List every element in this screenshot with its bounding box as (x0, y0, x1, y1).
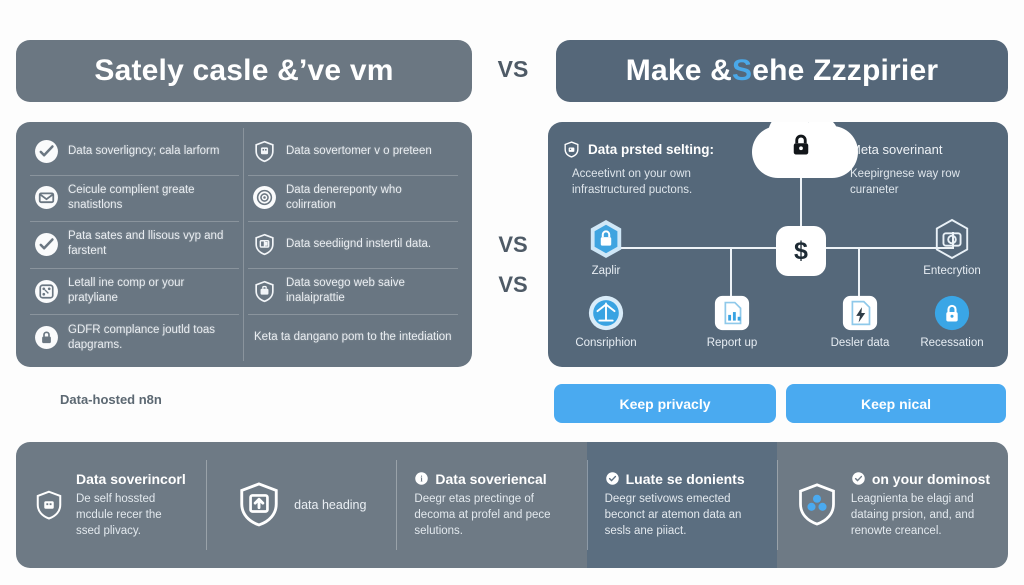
shield-building-icon (252, 139, 277, 164)
bottom-column-body: Deegr etas prectinge of decoma at profel… (414, 491, 568, 540)
right-panel-header: Make & Sehe Zzzpirier (556, 40, 1008, 102)
bottom-column-label: data heading (294, 498, 366, 512)
node-entecrytion[interactable]: Entecrytion (906, 218, 998, 277)
feature-text: Keta ta dangano pom to the intediation (254, 330, 452, 345)
node-label: Recessation (906, 337, 998, 349)
bottom-column-luate-se-donients[interactable]: Luate se donients Deegr setivows emected… (587, 442, 777, 568)
keep-nical-button[interactable]: Keep nical (786, 384, 1006, 423)
check-circle-icon (605, 471, 620, 486)
bottom-column-title: Data soveriencal (435, 471, 546, 487)
bottom-column-data-heading[interactable]: data heading (206, 442, 396, 568)
left-header-title: Sately casle &’ve vm (94, 54, 393, 88)
hex-lock-icon (560, 218, 652, 260)
bottom-column-text: Data soverincorl De self hossted mcdule … (76, 471, 188, 540)
vs-divider-top: VS (481, 56, 545, 83)
hex-camera-icon (906, 218, 998, 260)
bottom-column-body: De self hossted mcdule recer the ssed pl… (76, 491, 188, 540)
scales-circle-icon (560, 294, 652, 332)
bottom-column-body: Deegr setivows emected beconct ar atemon… (605, 491, 759, 540)
node-zaplir[interactable]: Zaplir (560, 218, 652, 277)
button-label: Keep privacly (619, 396, 710, 412)
padlock-icon (786, 130, 816, 165)
bottom-column-data-soverincorl[interactable]: Data soverincorl De self hossted mcdule … (16, 442, 206, 568)
lock-circle-icon (34, 325, 59, 350)
shield-lock-icon (34, 489, 64, 522)
bottom-column-title: Data soverincorl (76, 471, 188, 487)
left-feature-panel: Data soverligncy; cala larform Ceicule c… (16, 122, 472, 367)
check-circle-icon (851, 471, 866, 486)
bottom-column-text: on your dominost Leagnienta be elagi and… (851, 471, 990, 540)
cloud-node[interactable] (752, 126, 858, 178)
left-feature-column-1: Data soverligncy; cala larform Ceicule c… (26, 128, 244, 361)
hub-node-dollar[interactable]: $ (776, 226, 826, 276)
feature-row[interactable]: Data sovertomer v о preteen (244, 128, 462, 175)
bottom-column-body: Leagnienta be elagi and dataing prsion, … (851, 491, 990, 540)
node-label: Report up (686, 337, 778, 349)
right-panel-title-2: Meta soverinant (850, 142, 990, 157)
feature-row[interactable]: Ceicule complient greate snatistlons (26, 175, 243, 222)
connector-report (730, 247, 732, 297)
check-pencil-icon (34, 232, 59, 257)
feature-row[interactable]: Data seediignd instertil data. (244, 221, 462, 268)
shield-lock-icon (562, 140, 581, 159)
feature-row[interactable]: GDFR complance joutld toas dapgrams. (26, 314, 243, 361)
node-label: Consriphion (560, 337, 652, 349)
keep-privacly-button[interactable]: Keep privacly (554, 384, 776, 423)
right-panel-title-row: Data prsted selting: (562, 140, 714, 159)
bottom-column-title: on your dominost (872, 471, 990, 487)
check-pencil-icon (34, 139, 59, 164)
right-diagram-panel: Data prsted selting: Acceetivnt on your … (548, 122, 1008, 367)
envelope-icon (34, 185, 59, 210)
dollar-icon: $ (794, 237, 808, 266)
feature-text: Data soverligncy; cala larform (68, 144, 219, 159)
left-panel-header: Sately casle &’ve vm (16, 40, 472, 102)
left-feature-column-2: Data sovertomer v о preteen Data denerep… (244, 128, 462, 361)
node-label: Zaplir (560, 265, 652, 277)
feature-row[interactable]: Pata sates and llisous vyp and farstent (26, 221, 243, 268)
circle-lock-icon (906, 294, 998, 332)
report-chart-icon (686, 294, 778, 332)
bottom-column-title-row: i Data soveriencal (414, 471, 568, 487)
bottom-column-data-soveriencal[interactable]: i Data soveriencal Deegr etas prectinge … (396, 442, 586, 568)
vs-marker-1: VS (481, 232, 545, 258)
node-recessation[interactable]: Recessation (906, 294, 998, 349)
feature-row[interactable]: Data denereponty who colirration (244, 175, 462, 222)
target-circle-icon (252, 185, 277, 210)
right-panel-subtitle-2: Keepirgnese way row curaneter (850, 166, 990, 198)
vs-marker-2: VS (481, 272, 545, 298)
bottom-column-title: Luate se donients (626, 471, 745, 487)
connector-desler (858, 247, 860, 297)
feature-row[interactable]: Data soverligncy; cala larform (26, 128, 243, 175)
bottom-column-title-row: Luate se donients (605, 471, 759, 487)
node-consriphion[interactable]: Consriphion (560, 294, 652, 349)
shield-briefcase-icon (252, 279, 277, 304)
bottom-column-on-your-dominost[interactable]: on your dominost Leagnienta be elagi and… (777, 442, 1008, 568)
infographic-canvas: Sately casle &’ve vm VS Make & Sehe Zzzp… (0, 0, 1024, 585)
feature-text: Data sovego web saive inalaiprattie (286, 276, 454, 306)
info-circle-icon: i (414, 471, 429, 486)
node-desler-data[interactable]: Desler data (814, 294, 906, 349)
shield-split-icon (252, 232, 277, 257)
feature-text: GDFR complance joutld toas dapgrams. (68, 323, 235, 353)
feature-text: Data denereponty who colirration (286, 183, 454, 213)
feature-row[interactable]: Letall ine comp or your pratyliane (26, 268, 243, 315)
right-header-title-accent: S (732, 54, 752, 88)
shield-people-icon (795, 481, 839, 529)
left-panel-caption: Data-hosted n8n (60, 392, 162, 407)
bottom-summary-bar: Data soverincorl De self hossted mcdule … (16, 442, 1008, 568)
right-panel-subtitle: Acceetivnt on your own infrastructured p… (572, 166, 762, 198)
bottom-column-text: Luate se donients Deegr setivows emected… (605, 471, 759, 540)
feature-text: Pata sates and llisous vyp and farstent (68, 229, 235, 259)
bottom-column-title-row: on your dominost (851, 471, 990, 487)
right-header-title-post: ehe Zzzpirier (752, 54, 938, 88)
node-label: Desler data (814, 337, 906, 349)
node-report-up[interactable]: Report up (686, 294, 778, 349)
feature-text: Data seediignd instertil data. (286, 237, 431, 252)
feature-text: Letall ine comp or your pratyliane (68, 276, 235, 306)
node-label: Entecrytion (906, 265, 998, 277)
feature-text: Ceicule complient greate snatistlons (68, 183, 235, 213)
document-bolt-icon (814, 294, 906, 332)
right-header-title-pre: Make & (626, 54, 732, 88)
shield-upload-icon (236, 480, 282, 530)
feature-row[interactable]: Data sovego web saive inalaiprattie (244, 268, 462, 315)
bottom-column-text: i Data soveriencal Deegr etas prectinge … (414, 471, 568, 540)
feature-text: Data sovertomer v о preteen (286, 144, 432, 159)
right-panel-title: Data prsted selting: (588, 142, 714, 157)
button-label: Keep nical (861, 396, 931, 412)
share-nodes-icon (34, 279, 59, 304)
connector-cloud-hub (800, 178, 802, 226)
feature-row[interactable]: Keta ta dangano pom to the intediation (244, 314, 462, 361)
